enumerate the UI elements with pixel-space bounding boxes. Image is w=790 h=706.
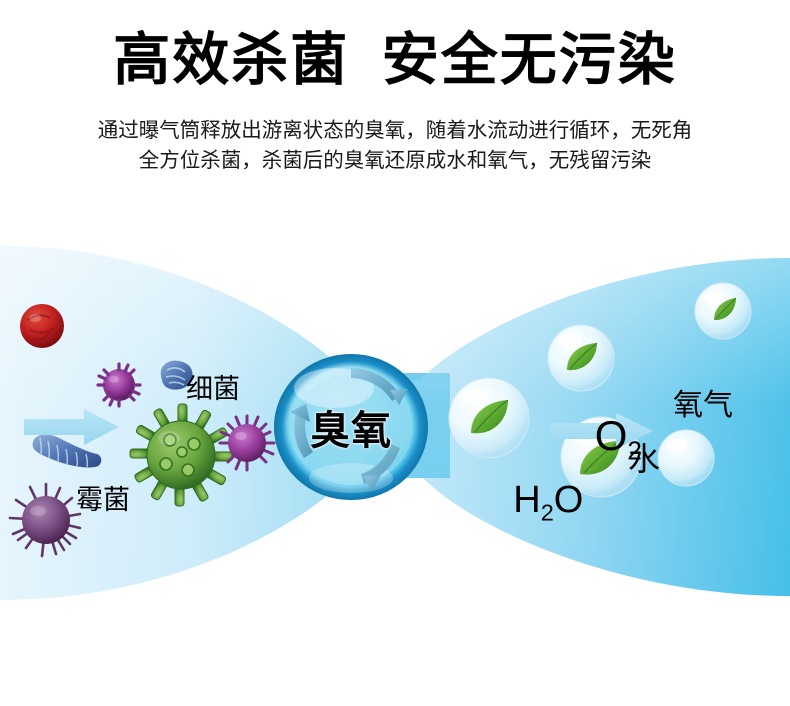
subtitle-block: 通过曝气筒释放出游离状态的臭氧，随着水流动进行循环，无死角 全方位杀菌，杀菌后的…: [15, 116, 775, 176]
ozone-sphere: [272, 352, 430, 502]
label-h2o-subscript: 2: [541, 500, 554, 526]
label-water: 水: [628, 434, 660, 480]
left-flow-arrow-icon: [22, 406, 122, 448]
subtitle-line-2: 全方位杀菌，杀菌后的臭氧还原成水和氧气，无残留污染: [15, 146, 775, 176]
germ-red-cocci: [14, 298, 70, 354]
label-oxygen-gas: 氧气: [673, 380, 733, 424]
label-h2o: H2O: [471, 436, 583, 570]
label-mold: 霉菌: [76, 478, 130, 517]
label-h2o-oxygen: O: [554, 479, 584, 521]
header-section: 高效杀菌 安全无污染 通过曝气筒释放出游离状态的臭氧，随着水流动进行循环，无死角…: [0, 0, 790, 210]
leaf-bubble-top-right: [692, 280, 754, 342]
label-h2o-hydrogen: H: [513, 479, 540, 521]
plain-bubble-right: [655, 427, 717, 489]
illustration-section: 臭氧 细菌 霉菌 O2 H2O 氧气 水: [0, 228, 790, 618]
label-bacteria: 细菌: [186, 367, 240, 406]
page-title: 高效杀菌 安全无污染: [0, 28, 790, 94]
label-o2-element: O: [595, 412, 628, 459]
subtitle-line-1: 通过曝气筒释放出游离状态的臭氧，随着水流动进行循环，无死角: [15, 116, 775, 146]
